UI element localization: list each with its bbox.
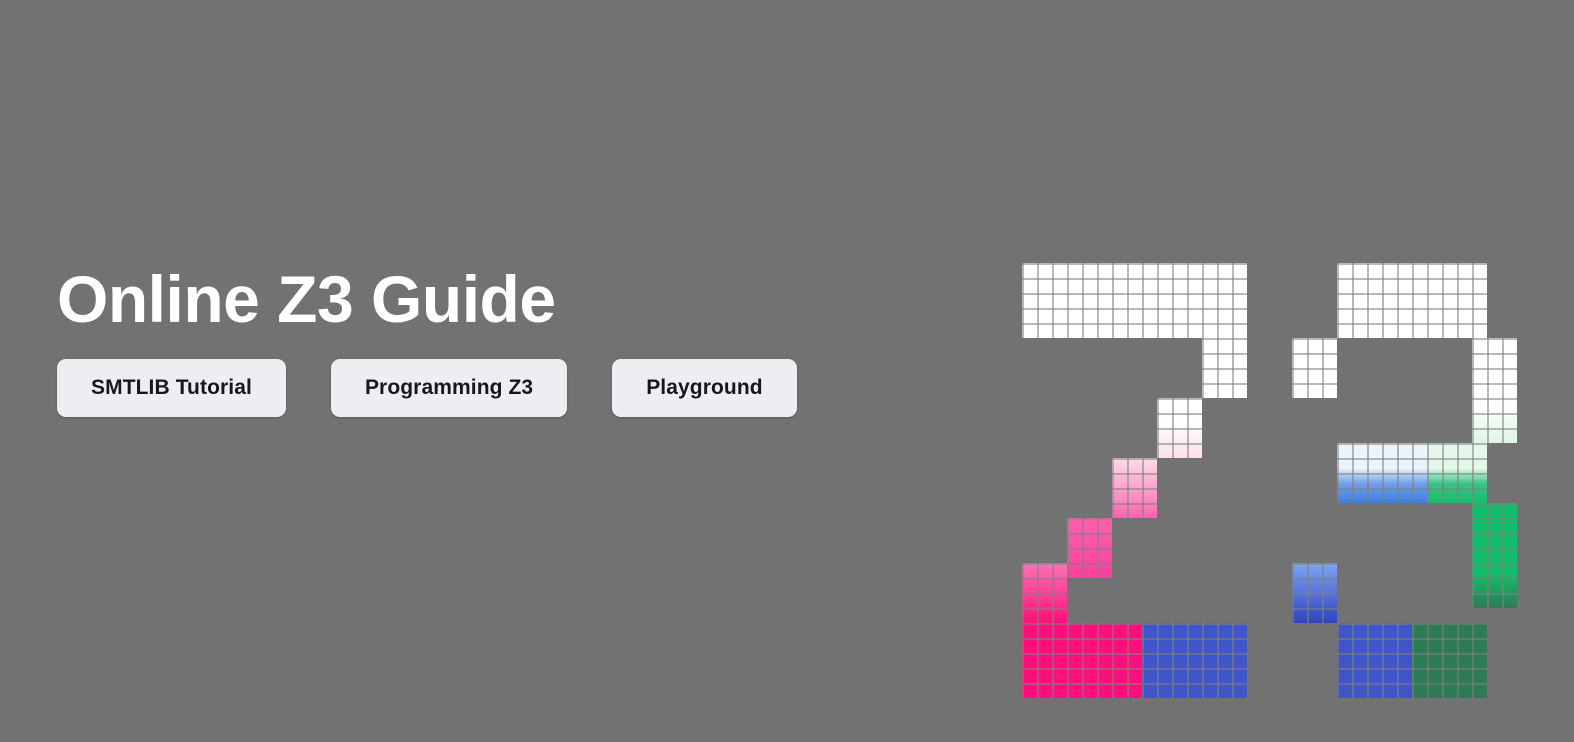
three-mid-bar-blue-fill <box>1337 443 1427 503</box>
three-bottom-green-fill <box>1412 623 1487 698</box>
z-diag-2-fill <box>1157 398 1202 458</box>
z-diag-5 <box>1022 563 1067 623</box>
three-top-left-stub <box>1292 338 1337 398</box>
z-top-bar-fill <box>1022 263 1247 338</box>
three-bottom-stub-fill <box>1292 563 1337 623</box>
three-top-bar-fill <box>1337 263 1487 338</box>
three-bottom-green <box>1412 623 1487 698</box>
three-bottom-stub <box>1292 563 1337 623</box>
hero-text-column: Online Z3 Guide SMTLIB TutorialProgrammi… <box>57 258 957 417</box>
smtlib-tutorial-button[interactable]: SMTLIB Tutorial <box>57 359 286 417</box>
z-bottom-pink-fill <box>1022 623 1142 698</box>
z-diag-4 <box>1067 518 1112 578</box>
three-right-lower <box>1472 503 1517 608</box>
three-mid-bar-blue <box>1337 443 1427 503</box>
pixel-glyph-3 <box>1292 263 1514 585</box>
three-right-upper-fill <box>1472 338 1517 443</box>
z-diag-4-fill <box>1067 518 1112 578</box>
three-right-lower-fill <box>1472 503 1517 608</box>
z-diag-1 <box>1202 338 1247 398</box>
z-diag-1-fill <box>1202 338 1247 398</box>
three-top-bar <box>1337 263 1487 338</box>
three-mid-bar-green-fill <box>1427 443 1487 503</box>
three-right-upper <box>1472 338 1517 443</box>
pixel-glyph-z <box>1022 263 1247 585</box>
hero-section: Online Z3 Guide SMTLIB TutorialProgrammi… <box>0 0 1574 742</box>
cta-button-row: SMTLIB TutorialProgramming Z3Playground <box>57 359 957 417</box>
three-bottom-blue-fill <box>1337 623 1412 698</box>
page-title: Online Z3 Guide <box>57 258 957 340</box>
three-top-left-stub-fill <box>1292 338 1337 398</box>
z-top-bar <box>1022 263 1247 338</box>
programming-z3-button[interactable]: Programming Z3 <box>331 359 567 417</box>
playground-button[interactable]: Playground <box>612 359 797 417</box>
z-diag-3 <box>1112 458 1157 518</box>
z3-pixel-logo <box>1022 263 1514 585</box>
z-bottom-pink <box>1022 623 1142 698</box>
three-bottom-blue <box>1337 623 1412 698</box>
z-diag-2 <box>1157 398 1202 458</box>
z-bottom-blue <box>1142 623 1247 698</box>
three-mid-bar-green <box>1427 443 1487 503</box>
z-bottom-blue-fill <box>1142 623 1247 698</box>
z-diag-5-fill <box>1022 563 1067 623</box>
z-diag-3-fill <box>1112 458 1157 518</box>
